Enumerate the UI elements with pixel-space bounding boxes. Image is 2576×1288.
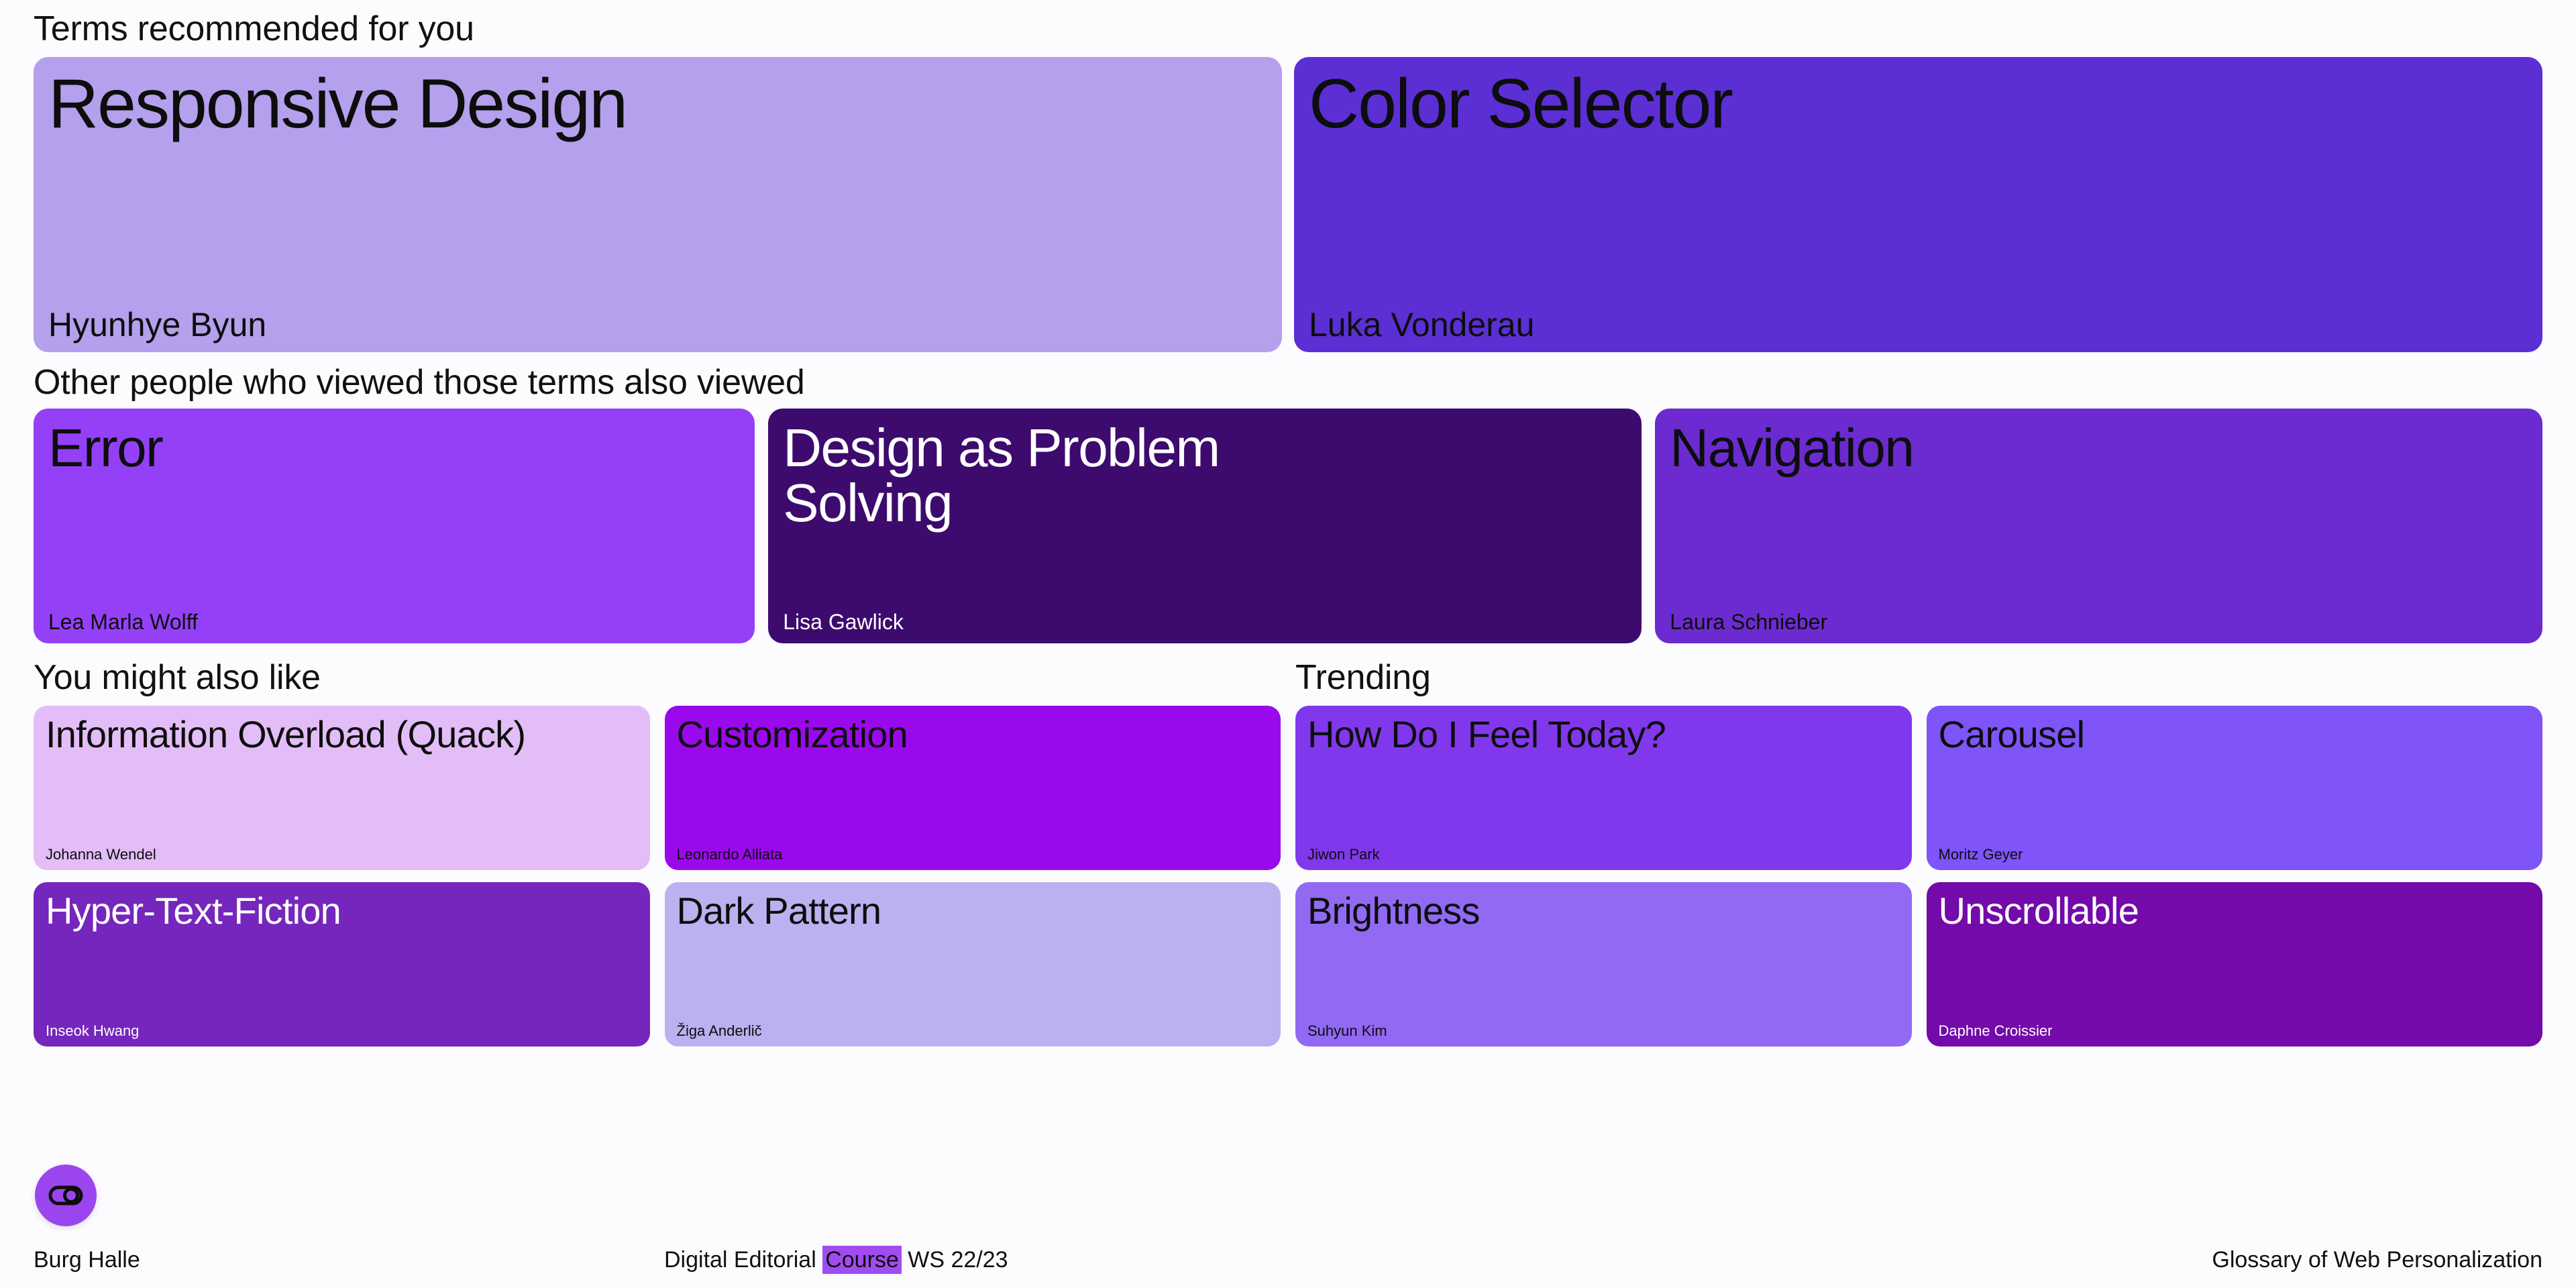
- term-card[interactable]: Error Lea Marla Wolff: [34, 409, 755, 643]
- term-card[interactable]: How Do I Feel Today? Jiwon Park: [1295, 706, 1912, 870]
- lower-headings-row: You might also like Trending: [34, 659, 2542, 696]
- term-card-title: Unscrollable: [1939, 892, 2531, 930]
- term-card[interactable]: Hyper-Text-Fiction Inseok Hwang: [34, 882, 650, 1046]
- term-card[interactable]: Carousel Moritz Geyer: [1927, 706, 2543, 870]
- heading-you-might-also-like: You might also like: [34, 659, 1281, 696]
- heading-recommended: Terms recommended for you: [34, 0, 2542, 48]
- term-card-author: Lisa Gawlick: [783, 611, 1627, 633]
- term-card-author: Žiga Anderlič: [677, 1024, 1269, 1038]
- glossary-page: Terms recommended for you Responsive Des…: [0, 0, 2576, 1288]
- term-card-title: Brightness: [1307, 892, 1900, 930]
- footer-course-pre: Digital Editorial: [664, 1247, 822, 1273]
- term-card-author: Jiwon Park: [1307, 847, 1900, 862]
- page-footer: Burg Halle Digital Editorial Course WS 2…: [0, 1247, 2576, 1273]
- term-card[interactable]: Customization Leonardo Alliata: [665, 706, 1281, 870]
- toggle-switch-button[interactable]: [35, 1165, 97, 1226]
- term-card-author: Luka Vonderau: [1309, 308, 2528, 341]
- term-card[interactable]: Navigation Laura Schnieber: [1655, 409, 2542, 643]
- toggle-switch-icon: [48, 1185, 83, 1205]
- footer-course-highlight[interactable]: Course: [822, 1246, 902, 1274]
- term-card[interactable]: Responsive Design Hyunhye Byun: [34, 57, 1282, 352]
- recommended-card-row: Responsive Design Hyunhye Byun Color Sel…: [34, 57, 2542, 352]
- term-card-author: Inseok Hwang: [46, 1024, 638, 1038]
- term-card-title: Design as Problem Solving: [783, 421, 1373, 530]
- trending-grid: How Do I Feel Today? Jiwon Park Carousel…: [1295, 706, 2542, 1046]
- term-card-title: Carousel: [1939, 715, 2531, 754]
- heading-trending: Trending: [1295, 659, 2542, 696]
- term-card-title: How Do I Feel Today?: [1307, 715, 1900, 754]
- term-card-author: Laura Schnieber: [1670, 611, 2528, 633]
- term-card-author: Lea Marla Wolff: [48, 611, 740, 633]
- term-card-author: Daphne Croissier: [1939, 1024, 2531, 1038]
- term-card-title: Dark Pattern: [677, 892, 1269, 930]
- heading-also-viewed: Other people who viewed those terms also…: [34, 364, 2542, 401]
- term-card-title: Responsive Design: [48, 69, 1267, 139]
- term-card-author: Moritz Geyer: [1939, 847, 2531, 862]
- you-might-also-like-column: Information Overload (Quack) Johanna Wen…: [34, 696, 1281, 1046]
- term-card-author: Johanna Wendel: [46, 847, 638, 862]
- term-card-title: Error: [48, 421, 740, 476]
- term-card[interactable]: Color Selector Luka Vonderau: [1294, 57, 2542, 352]
- footer-course: Digital Editorial Course WS 22/23: [664, 1247, 1008, 1273]
- footer-institution: Burg Halle: [34, 1247, 140, 1273]
- term-card-title: Navigation: [1670, 421, 2528, 476]
- term-card-author: Hyunhye Byun: [48, 308, 1267, 341]
- term-card-title: Hyper-Text-Fiction: [46, 892, 638, 930]
- term-card[interactable]: Unscrollable Daphne Croissier: [1927, 882, 2543, 1046]
- term-card-title: Color Selector: [1309, 69, 2528, 139]
- footer-course-post: WS 22/23: [902, 1247, 1008, 1273]
- you-might-also-like-grid: Information Overload (Quack) Johanna Wen…: [34, 706, 1281, 1046]
- term-card[interactable]: Design as Problem Solving Lisa Gawlick: [768, 409, 1642, 643]
- also-viewed-card-row: Error Lea Marla Wolff Design as Problem …: [34, 409, 2542, 643]
- term-card[interactable]: Information Overload (Quack) Johanna Wen…: [34, 706, 650, 870]
- footer-project-title: Glossary of Web Personalization: [2212, 1247, 2542, 1273]
- term-card-author: Suhyun Kim: [1307, 1024, 1900, 1038]
- trending-column: How Do I Feel Today? Jiwon Park Carousel…: [1295, 696, 2542, 1046]
- lower-grids: Information Overload (Quack) Johanna Wen…: [34, 696, 2542, 1046]
- term-card-author: Leonardo Alliata: [677, 847, 1269, 862]
- term-card[interactable]: Dark Pattern Žiga Anderlič: [665, 882, 1281, 1046]
- term-card-title: Information Overload (Quack): [46, 715, 638, 754]
- term-card-title: Customization: [677, 715, 1269, 754]
- term-card[interactable]: Brightness Suhyun Kim: [1295, 882, 1912, 1046]
